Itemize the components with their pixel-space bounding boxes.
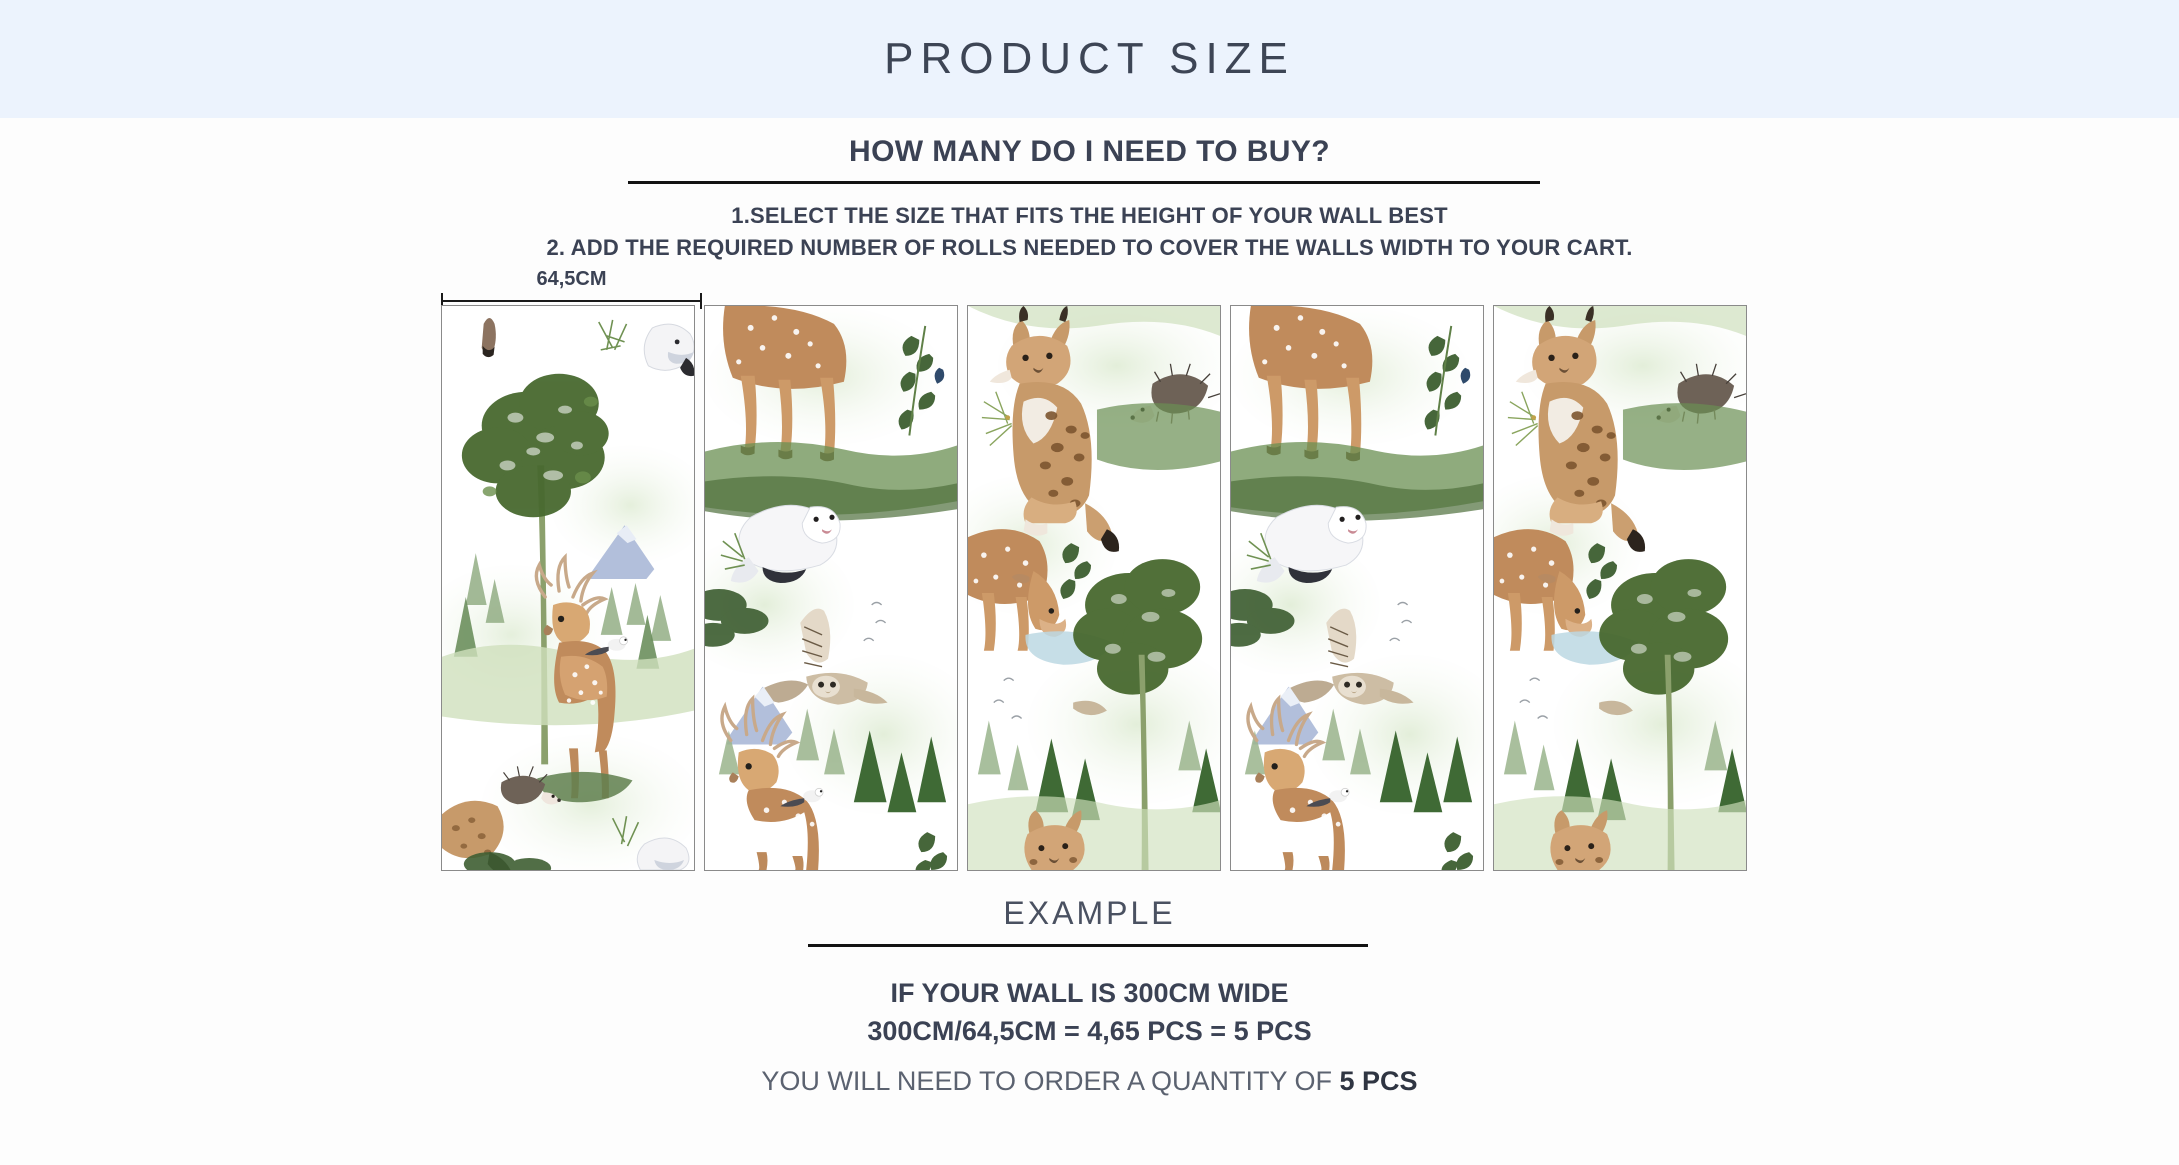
- wallpaper-panel-row: [441, 305, 1741, 871]
- header-band: PRODUCT SIZE: [0, 0, 2179, 118]
- wallpaper-panel[interactable]: [1493, 305, 1747, 871]
- wallpaper-art-variant-c: [1494, 306, 1746, 870]
- instruction-step-2: 2. ADD THE REQUIRED NUMBER OF ROLLS NEED…: [0, 232, 2179, 264]
- wallpaper-panel[interactable]: [704, 305, 958, 871]
- wallpaper-art-variant-c: [968, 306, 1220, 870]
- wallpaper-art-variant-b: [1231, 306, 1483, 870]
- section-subheading: HOW MANY DO I NEED TO BUY?: [0, 135, 2179, 169]
- example-order-prefix: YOU WILL NEED TO ORDER A QUANTITY OF: [761, 1066, 1339, 1096]
- example-order-quantity: YOU WILL NEED TO ORDER A QUANTITY OF 5 P…: [0, 1066, 2179, 1097]
- example-wall-width: IF YOUR WALL IS 300CM WIDE: [0, 978, 2179, 1009]
- dimension-label: 64,5CM: [441, 268, 702, 291]
- wallpaper-panel[interactable]: [967, 305, 1221, 871]
- wallpaper-art-variant-b: [705, 306, 957, 870]
- instructions-list: 1.SELECT THE SIZE THAT FITS THE HEIGHT O…: [0, 200, 2179, 264]
- wallpaper-panel[interactable]: [441, 305, 695, 871]
- wallpaper-art-variant-a: [442, 306, 694, 870]
- page-title: PRODUCT SIZE: [884, 34, 1295, 84]
- example-heading: EXAMPLE: [0, 895, 2179, 932]
- dimension-bar: [441, 300, 702, 302]
- wallpaper-panel[interactable]: [1230, 305, 1484, 871]
- example-divider: [808, 944, 1368, 947]
- example-calculation: 300CM/64,5CM = 4,65 PCS = 5 PCS: [0, 1016, 2179, 1047]
- instruction-step-1: 1.SELECT THE SIZE THAT FITS THE HEIGHT O…: [0, 200, 2179, 232]
- example-order-value: 5 PCS: [1340, 1066, 1418, 1096]
- subheading-divider: [628, 181, 1540, 184]
